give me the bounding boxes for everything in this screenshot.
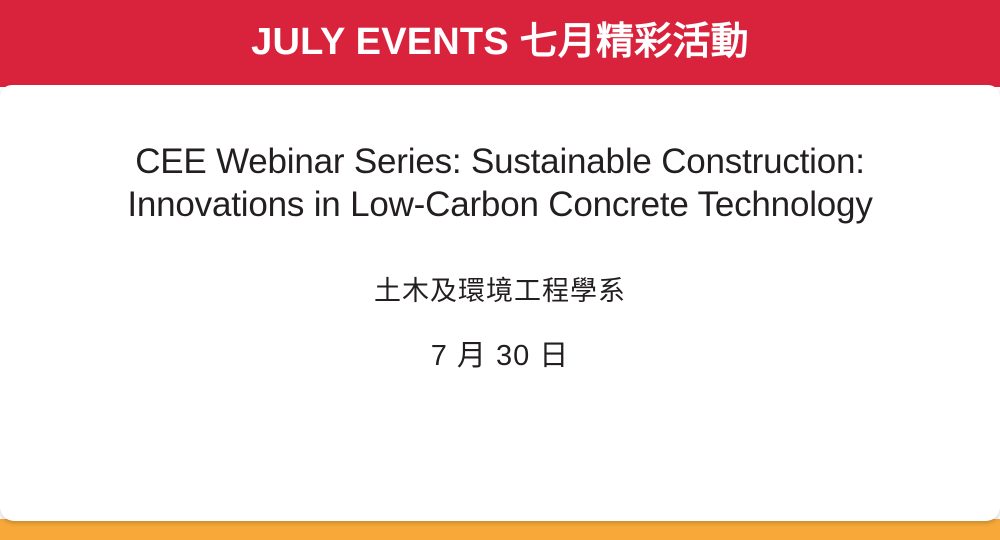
event-poster: JULY EVENTS 七月精彩活動 CEE Webinar Series: S…: [0, 0, 1000, 540]
header-band: JULY EVENTS 七月精彩活動: [0, 0, 1000, 87]
event-date: 7 月 30 日: [0, 307, 1000, 374]
event-title: CEE Webinar Series: Sustainable Construc…: [0, 85, 1000, 227]
event-card: CEE Webinar Series: Sustainable Construc…: [0, 85, 1000, 521]
footer-accent-bar: [0, 519, 1000, 540]
header-title: JULY EVENTS 七月精彩活動: [251, 23, 749, 65]
event-department: 土木及環境工程學系: [0, 227, 1000, 307]
event-card-content: CEE Webinar Series: Sustainable Construc…: [0, 85, 1000, 374]
